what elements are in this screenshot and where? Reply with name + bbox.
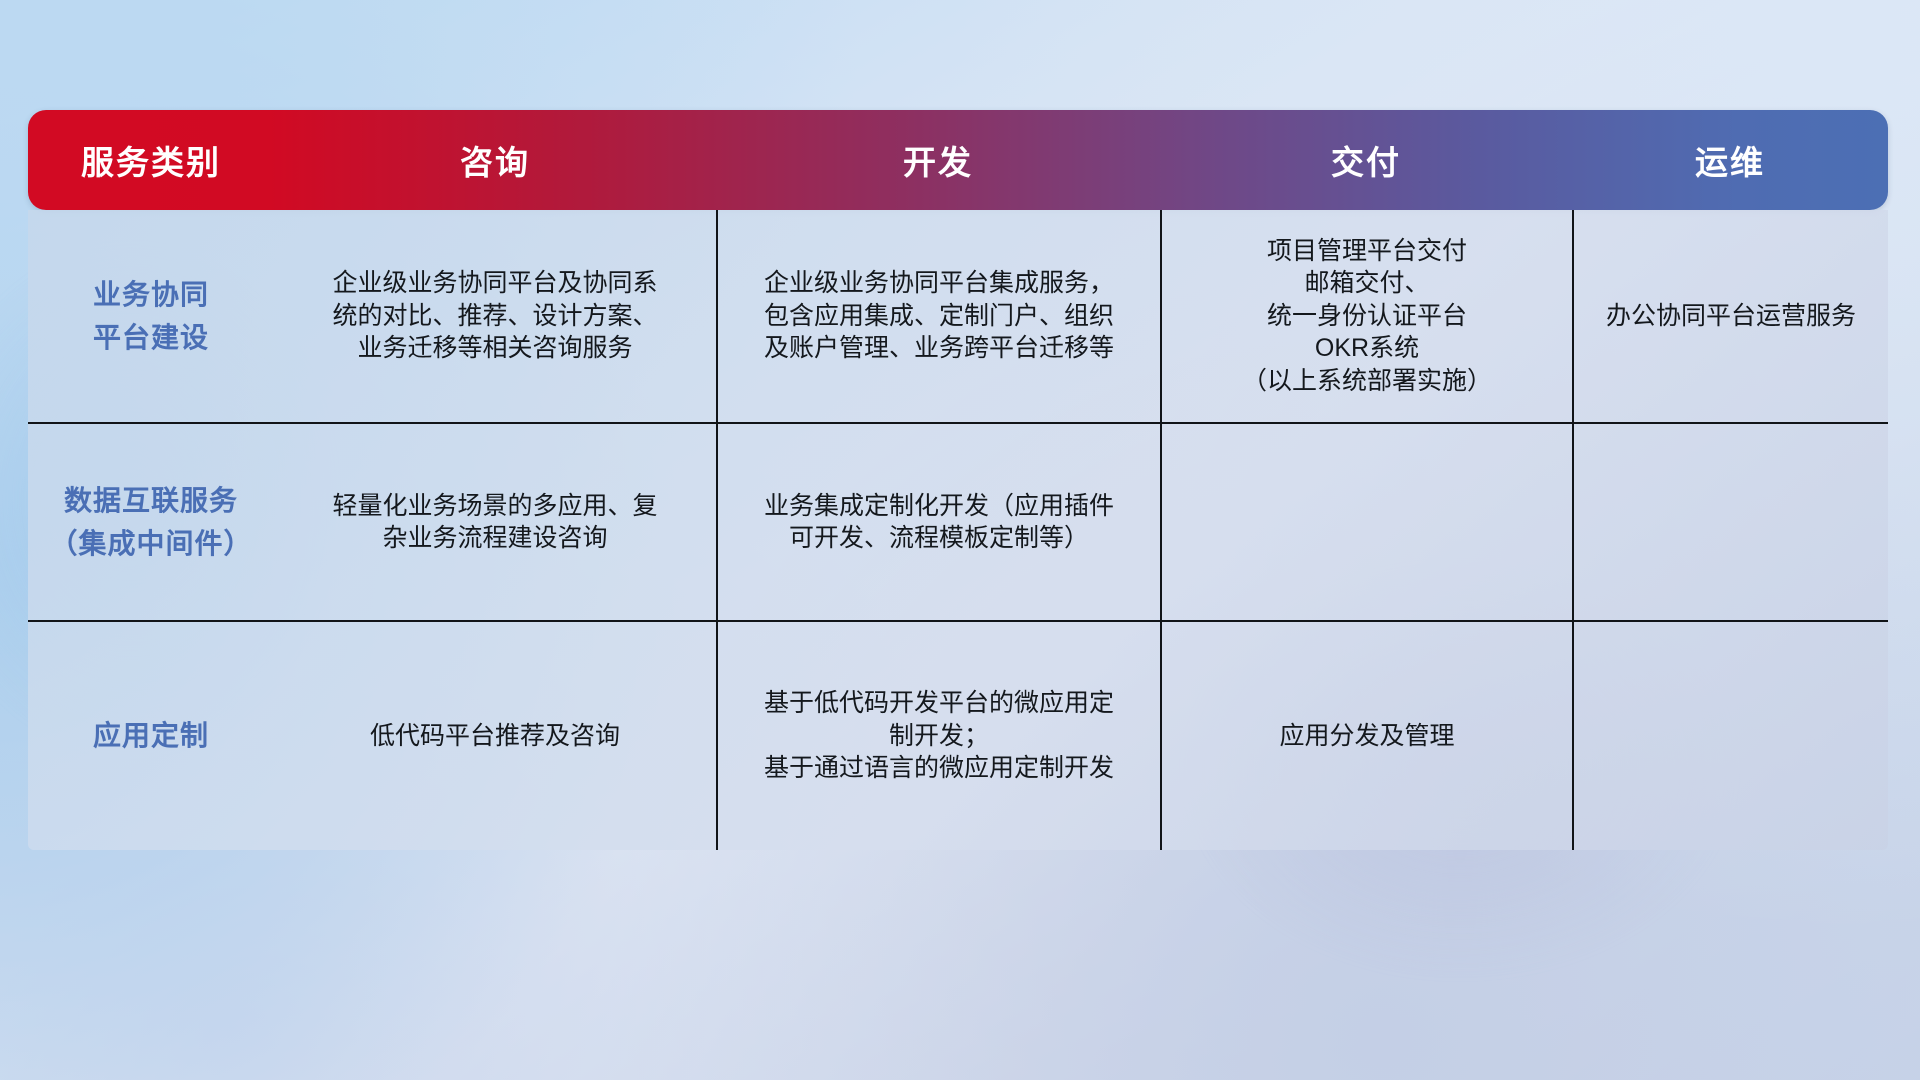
cell-consulting: 低代码平台推荐及咨询 xyxy=(274,622,716,850)
service-matrix-table: 服务类别 咨询 开发 交付 运维 业务协同 平台建设 企业级业务协同平台及协同系… xyxy=(28,110,1888,850)
column-header-category: 服务类别 xyxy=(28,110,274,210)
cell-operations xyxy=(1572,424,1888,620)
column-header-development: 开发 xyxy=(716,110,1160,210)
cell-consulting: 轻量化业务场景的多应用、复 杂业务流程建设咨询 xyxy=(274,424,716,620)
column-header-consulting: 咨询 xyxy=(274,110,716,210)
column-header-delivery: 交付 xyxy=(1160,110,1572,210)
cell-category: 应用定制 xyxy=(28,622,274,850)
cell-category: 数据互联服务 （集成中间件） xyxy=(28,424,274,620)
column-header-operations: 运维 xyxy=(1572,110,1888,210)
table-row: 业务协同 平台建设 企业级业务协同平台及协同系 统的对比、推荐、设计方案、 业务… xyxy=(28,210,1888,422)
table-body: 业务协同 平台建设 企业级业务协同平台及协同系 统的对比、推荐、设计方案、 业务… xyxy=(28,210,1888,850)
cell-operations: 办公协同平台运营服务 xyxy=(1572,210,1888,422)
cell-delivery xyxy=(1160,424,1572,620)
cell-development: 业务集成定制化开发（应用插件 可开发、流程模板定制等） xyxy=(716,424,1160,620)
cell-development: 基于低代码开发平台的微应用定 制开发； 基于通过语言的微应用定制开发 xyxy=(716,622,1160,850)
cell-delivery: 项目管理平台交付 邮箱交付、 统一身份认证平台 OKR系统 （以上系统部署实施） xyxy=(1160,210,1572,422)
table-row: 数据互联服务 （集成中间件） 轻量化业务场景的多应用、复 杂业务流程建设咨询 业… xyxy=(28,422,1888,620)
cell-delivery: 应用分发及管理 xyxy=(1160,622,1572,850)
cell-development: 企业级业务协同平台集成服务， 包含应用集成、定制门户、组织 及账户管理、业务跨平… xyxy=(716,210,1160,422)
cell-category: 业务协同 平台建设 xyxy=(28,210,274,422)
table-header-row: 服务类别 咨询 开发 交付 运维 xyxy=(28,110,1888,210)
cell-operations xyxy=(1572,622,1888,850)
cell-consulting: 企业级业务协同平台及协同系 统的对比、推荐、设计方案、 业务迁移等相关咨询服务 xyxy=(274,210,716,422)
table-row: 应用定制 低代码平台推荐及咨询 基于低代码开发平台的微应用定 制开发； 基于通过… xyxy=(28,620,1888,850)
